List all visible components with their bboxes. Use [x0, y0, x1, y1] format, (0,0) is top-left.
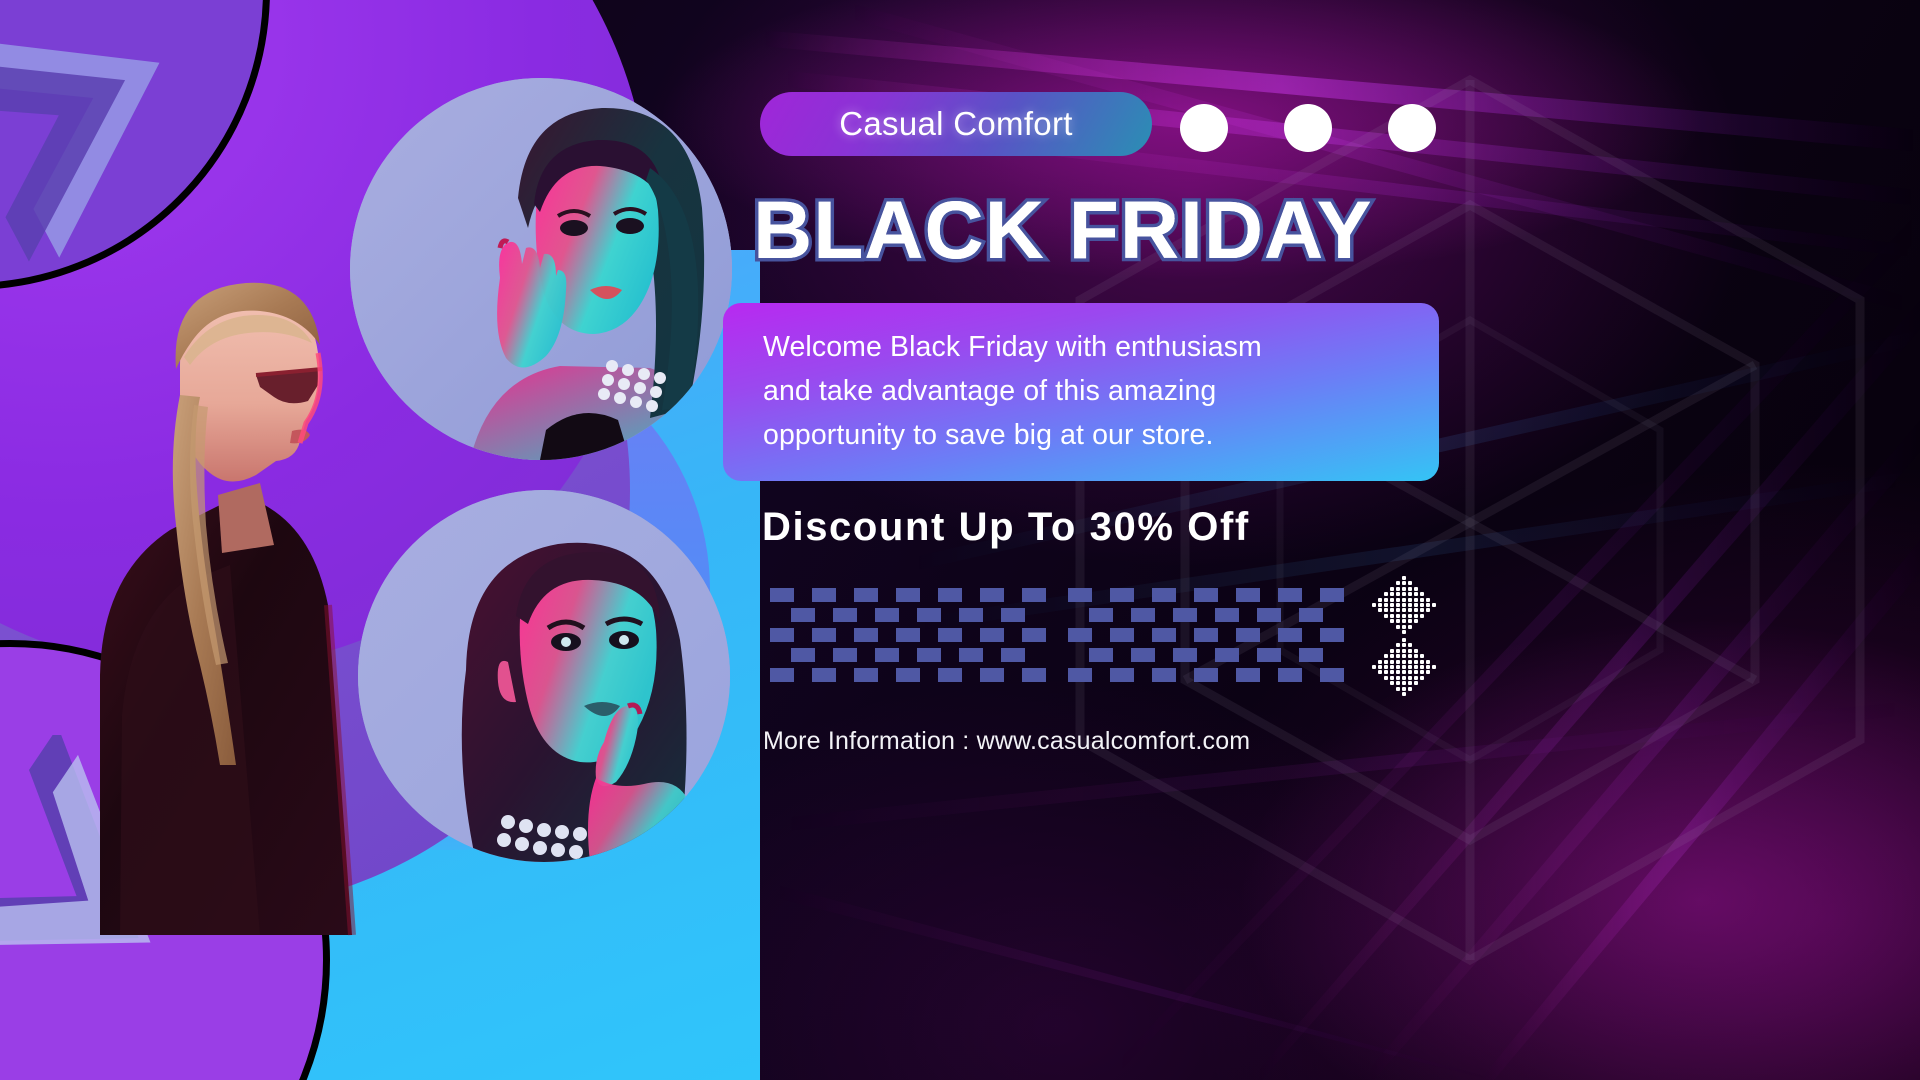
- description-line-2: and take advantage of this amazing: [763, 369, 1405, 413]
- checker-square: [812, 588, 836, 602]
- diamond-dot: [1420, 614, 1424, 618]
- checker-square: [854, 628, 878, 642]
- diamond-dot: [1390, 598, 1394, 602]
- diamond-dot: [1402, 598, 1406, 602]
- checker-square: [1110, 588, 1134, 602]
- diamond-dot: [1426, 608, 1430, 612]
- checker-square: [1068, 628, 1092, 642]
- diamond-dot: [1402, 603, 1406, 607]
- checker-square: [959, 648, 983, 662]
- diamond-dot: [1402, 608, 1406, 612]
- diamond-dot: [1414, 681, 1418, 685]
- diamond-dot: [1426, 670, 1430, 674]
- checker-square: [1152, 628, 1176, 642]
- diamond-dot: [1390, 649, 1394, 653]
- diamond-dot: [1402, 581, 1406, 585]
- diamond-dot: [1408, 643, 1412, 647]
- checker-square: [1194, 668, 1218, 682]
- checker-square: [1089, 648, 1113, 662]
- diamond-dot: [1396, 587, 1400, 591]
- diamond-dot: [1396, 603, 1400, 607]
- diamond-dot: [1414, 649, 1418, 653]
- diamond-dot: [1402, 665, 1406, 669]
- diamond-dot: [1420, 660, 1424, 664]
- diamond-dot: [1402, 670, 1406, 674]
- model-hooded-photo: [60, 245, 420, 945]
- diamond-dot: [1378, 665, 1382, 669]
- diamond-dot: [1396, 660, 1400, 664]
- diamond-dot: [1408, 681, 1412, 685]
- checker-square: [1022, 628, 1046, 642]
- diamond-dot: [1384, 592, 1388, 596]
- dotted-diamond-bottom: [1368, 634, 1436, 696]
- diamond-dot: [1414, 598, 1418, 602]
- checker-square: [1068, 588, 1092, 602]
- diamond-dot: [1390, 660, 1394, 664]
- checker-square: [1001, 608, 1025, 622]
- diamond-dot: [1408, 670, 1412, 674]
- checker-square: [791, 608, 815, 622]
- checker-square: [1236, 668, 1260, 682]
- checker-square: [1257, 608, 1281, 622]
- diamond-dot: [1402, 687, 1406, 691]
- diamond-dot: [1384, 608, 1388, 612]
- diamond-dot: [1408, 665, 1412, 669]
- checker-square: [896, 628, 920, 642]
- diamond-dot: [1420, 665, 1424, 669]
- diamond-dot: [1396, 619, 1400, 623]
- diamond-dot: [1414, 665, 1418, 669]
- diamond-dot: [1408, 649, 1412, 653]
- diamond-dot: [1408, 592, 1412, 596]
- diamond-dot: [1390, 619, 1394, 623]
- diamond-dot: [1396, 608, 1400, 612]
- dotted-diamond-top: [1368, 572, 1436, 634]
- diamond-dot: [1408, 587, 1412, 591]
- description-line-3: opportunity to save big at our store.: [763, 413, 1405, 457]
- checker-square: [770, 628, 794, 642]
- diamond-dot: [1426, 660, 1430, 664]
- diamond-dot: [1396, 625, 1400, 629]
- checker-square: [938, 628, 962, 642]
- description-line-1: Welcome Black Friday with enthusiasm: [763, 325, 1405, 369]
- diamond-dot: [1396, 643, 1400, 647]
- diamond-dot: [1372, 603, 1376, 607]
- diamond-dot: [1414, 670, 1418, 674]
- diamond-dot: [1408, 687, 1412, 691]
- diamond-dot: [1402, 643, 1406, 647]
- diamond-dot: [1426, 665, 1430, 669]
- checker-square: [833, 608, 857, 622]
- description-box: Welcome Black Friday with enthusiasm and…: [723, 303, 1439, 481]
- diamond-dot: [1402, 660, 1406, 664]
- diamond-dot: [1414, 619, 1418, 623]
- checker-square: [791, 648, 815, 662]
- diamond-dot: [1414, 608, 1418, 612]
- checker-square: [1320, 668, 1344, 682]
- checker-square: [1110, 668, 1134, 682]
- dot-3: [1388, 104, 1436, 152]
- checker-square: [1194, 628, 1218, 642]
- checker-square: [875, 608, 899, 622]
- diamond-dot: [1426, 598, 1430, 602]
- checker-square: [1215, 608, 1239, 622]
- diamond-dot: [1390, 608, 1394, 612]
- checker-square: [917, 648, 941, 662]
- checker-square: [812, 668, 836, 682]
- checker-square: [1152, 588, 1176, 602]
- diamond-dot: [1414, 676, 1418, 680]
- diamond-dot: [1420, 592, 1424, 596]
- diamond-dot: [1414, 654, 1418, 658]
- checker-square: [938, 668, 962, 682]
- diamond-dot: [1402, 592, 1406, 596]
- diamond-dot: [1414, 603, 1418, 607]
- portrait-bottom: [358, 490, 730, 862]
- diamond-dot: [1420, 598, 1424, 602]
- diamond-dot: [1420, 670, 1424, 674]
- checkerboard-left: [770, 588, 1060, 688]
- checker-square: [1194, 588, 1218, 602]
- diamond-dot: [1402, 619, 1406, 623]
- diamond-dot: [1384, 603, 1388, 607]
- diamond-dot: [1378, 608, 1382, 612]
- checkerboard-right: [1068, 588, 1358, 688]
- diamond-dot: [1408, 654, 1412, 658]
- diamond-dot: [1420, 676, 1424, 680]
- dot-1: [1180, 104, 1228, 152]
- promo-banner: Casual Comfort BLACK FRIDAY BLACK FRIDAY…: [0, 0, 1920, 1080]
- diamond-dot: [1378, 598, 1382, 602]
- diamond-dot: [1402, 692, 1406, 696]
- checker-square: [938, 588, 962, 602]
- diamond-dot: [1402, 625, 1406, 629]
- checker-square: [1131, 608, 1155, 622]
- diamond-dot: [1390, 665, 1394, 669]
- diamond-dot: [1402, 587, 1406, 591]
- diamond-dot: [1384, 614, 1388, 618]
- checker-square: [770, 668, 794, 682]
- diamond-dot: [1408, 625, 1412, 629]
- diamond-dot: [1384, 676, 1388, 680]
- checker-square: [896, 588, 920, 602]
- diamond-dot: [1396, 649, 1400, 653]
- checker-square: [875, 648, 899, 662]
- diamond-dot: [1378, 670, 1382, 674]
- diamond-dot: [1420, 654, 1424, 658]
- checker-square: [1022, 588, 1046, 602]
- diamond-dot: [1408, 676, 1412, 680]
- more-info-link[interactable]: More Information : www.casualcomfort.com: [763, 727, 1250, 756]
- diamond-dot: [1408, 598, 1412, 602]
- diamond-dot: [1408, 581, 1412, 585]
- discount-text: Discount Up To 30% Off: [762, 505, 1250, 550]
- diamond-dot: [1384, 654, 1388, 658]
- chevron-ornament-top: [0, 0, 260, 280]
- diamond-dot: [1396, 687, 1400, 691]
- checker-square: [833, 648, 857, 662]
- dot-indicator-group: [1180, 104, 1440, 154]
- diamond-dot: [1396, 592, 1400, 596]
- diamond-dot: [1378, 660, 1382, 664]
- checker-square: [917, 608, 941, 622]
- checker-square: [1110, 628, 1134, 642]
- diamond-dot: [1396, 665, 1400, 669]
- checker-square: [1236, 628, 1260, 642]
- diamond-dot: [1390, 587, 1394, 591]
- diamond-dot: [1432, 665, 1436, 669]
- diamond-dot: [1414, 592, 1418, 596]
- checker-square: [1001, 648, 1025, 662]
- diamond-dot: [1402, 576, 1406, 580]
- checker-square: [1257, 648, 1281, 662]
- diamond-dot: [1384, 670, 1388, 674]
- checker-square: [1278, 668, 1302, 682]
- checker-square: [980, 588, 1004, 602]
- diamond-dot: [1408, 603, 1412, 607]
- diamond-dot: [1378, 603, 1382, 607]
- checker-square: [1320, 628, 1344, 642]
- checker-square: [1173, 648, 1197, 662]
- diamond-dot: [1396, 581, 1400, 585]
- checker-square: [1299, 648, 1323, 662]
- diamond-dot: [1420, 603, 1424, 607]
- diamond-dot: [1408, 608, 1412, 612]
- dot-2: [1284, 104, 1332, 152]
- diamond-dot: [1396, 676, 1400, 680]
- diamond-dot: [1390, 676, 1394, 680]
- checker-square: [1152, 668, 1176, 682]
- checker-square: [1236, 588, 1260, 602]
- diamond-dot: [1414, 660, 1418, 664]
- checker-square: [1299, 608, 1323, 622]
- diamond-dot: [1396, 681, 1400, 685]
- brand-badge[interactable]: Casual Comfort: [760, 92, 1152, 156]
- checker-square: [1068, 668, 1092, 682]
- portrait-top: [350, 78, 732, 460]
- checker-square: [854, 668, 878, 682]
- checker-square: [1320, 588, 1344, 602]
- diamond-dot: [1432, 603, 1436, 607]
- diamond-dot: [1420, 608, 1424, 612]
- diamond-dot: [1402, 681, 1406, 685]
- diamond-dot: [1414, 587, 1418, 591]
- checker-square: [1278, 628, 1302, 642]
- diamond-dot: [1402, 676, 1406, 680]
- checker-square: [980, 628, 1004, 642]
- checker-square: [1089, 608, 1113, 622]
- diamond-dot: [1426, 603, 1430, 607]
- diamond-dot: [1408, 619, 1412, 623]
- diamond-dot: [1402, 614, 1406, 618]
- diamond-dot: [1402, 649, 1406, 653]
- checker-square: [1173, 608, 1197, 622]
- diamond-dot: [1402, 638, 1406, 642]
- diamond-dot: [1390, 681, 1394, 685]
- page-title: BLACK FRIDAY: [753, 185, 1453, 277]
- diamond-dot: [1390, 603, 1394, 607]
- checker-square: [1215, 648, 1239, 662]
- checker-square: [1278, 588, 1302, 602]
- diamond-dot: [1390, 592, 1394, 596]
- diamond-dot: [1372, 665, 1376, 669]
- diamond-dot: [1408, 660, 1412, 664]
- diamond-dot: [1390, 654, 1394, 658]
- diamond-dot: [1384, 665, 1388, 669]
- diamond-dot: [1390, 670, 1394, 674]
- diamond-dot: [1384, 660, 1388, 664]
- checker-square: [1131, 648, 1155, 662]
- diamond-dot: [1396, 654, 1400, 658]
- diamond-dot: [1396, 670, 1400, 674]
- diamond-dot: [1390, 614, 1394, 618]
- diamond-dot: [1408, 614, 1412, 618]
- checker-square: [959, 608, 983, 622]
- diamond-dot: [1402, 654, 1406, 658]
- diamond-dot: [1396, 598, 1400, 602]
- checker-square: [854, 588, 878, 602]
- checker-square: [896, 668, 920, 682]
- checker-square: [770, 588, 794, 602]
- diamond-dot: [1396, 614, 1400, 618]
- brand-badge-label: Casual Comfort: [839, 105, 1072, 143]
- checker-square: [1022, 668, 1046, 682]
- diamond-dot: [1384, 598, 1388, 602]
- checker-square: [980, 668, 1004, 682]
- checker-square: [812, 628, 836, 642]
- diamond-dot: [1414, 614, 1418, 618]
